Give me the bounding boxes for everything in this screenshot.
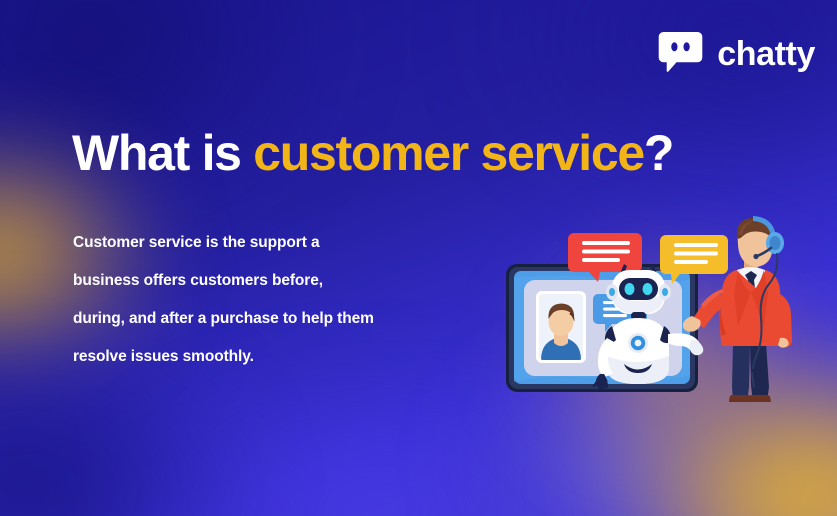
headline-part-3: ? [644,125,673,181]
body-line-2: business offers customers before, [73,262,473,300]
body-line-1: Customer service is the support a [73,224,473,262]
body-paragraph: Customer service is the support a busine… [73,224,473,376]
headline-part-2: customer service [253,125,644,181]
slide-canvas: chatty What is customer service? Custome… [0,0,837,516]
headline-part-1: What is [72,125,253,181]
speech-bubble-icon [657,30,704,77]
body-line-4: resolve issues smoothly. [73,338,473,376]
customer-support-illustration [488,212,818,402]
brand-name: chatty [717,37,815,71]
brand-logo[interactable]: chatty [657,30,815,77]
body-line-3: during, and after a purchase to help the… [73,300,473,338]
page-title: What is customer service? [72,126,673,180]
